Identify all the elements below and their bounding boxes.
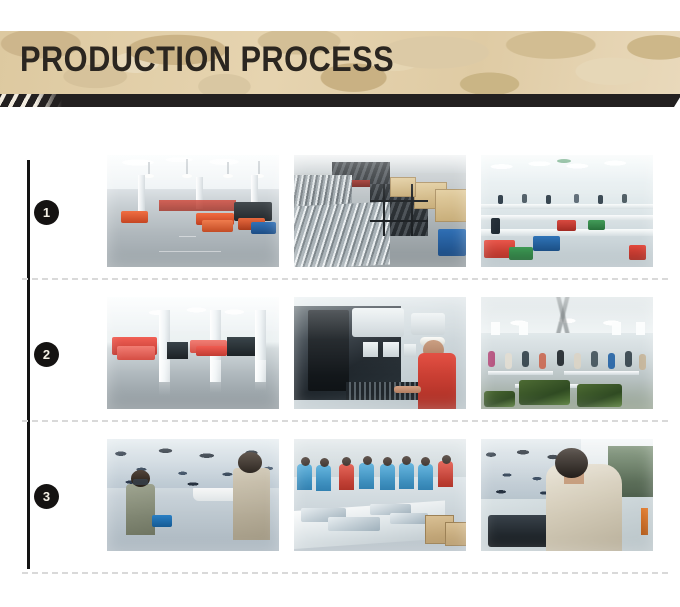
step-row-1: 1 (0, 155, 680, 273)
photo-sewing-station[interactable] (481, 439, 653, 551)
step-row-3: 3 (0, 439, 680, 557)
step-badge-1: 1 (34, 200, 59, 225)
photo-material-storage[interactable] (107, 297, 279, 409)
steps-container: 1 (0, 0, 680, 607)
photo-assembly-line[interactable] (294, 439, 466, 551)
production-process-page: PRODUCTION PROCESS 1 (0, 0, 680, 607)
step-divider-1 (22, 278, 668, 280)
photo-raw-material-stock[interactable] (294, 155, 466, 267)
step-divider-2 (22, 420, 668, 422)
step-row-2: 2 (0, 297, 680, 415)
photo-fabric-cutting[interactable] (107, 439, 279, 551)
step-badge-3: 3 (34, 484, 59, 509)
photo-production-floor[interactable] (481, 297, 653, 409)
step-badge-2: 2 (34, 342, 59, 367)
step-divider-3 (22, 572, 668, 574)
photo-warehouse-overview[interactable] (107, 155, 279, 267)
photo-machine-operation[interactable] (294, 297, 466, 409)
photo-sewing-hall-overview[interactable] (481, 155, 653, 267)
